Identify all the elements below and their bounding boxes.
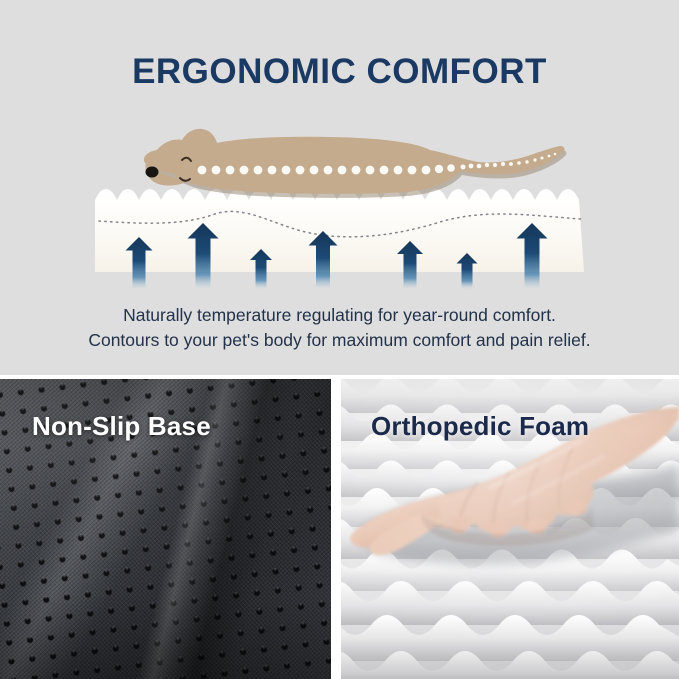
page-title: ERGONOMIC COMFORT [0,52,679,92]
panel-label-non-slip-base: Non-Slip Base [32,411,211,442]
product-infographic: ERGONOMIC COMFORT [0,0,679,679]
panel-non-slip-base: Non-Slip Base [0,379,331,679]
feature-panels: Non-Slip Base [0,379,679,679]
panel-orthopedic-foam: Orthopedic Foam [341,379,679,679]
caption-line-2: Contours to your pet's body for maximum … [0,328,679,353]
ergonomic-comfort-panel: ERGONOMIC COMFORT [0,0,679,375]
benefit-captions: Naturally temperature regulating for yea… [0,303,679,353]
sleeping-dog-illustration [130,126,570,226]
caption-line-1: Naturally temperature regulating for yea… [0,303,679,328]
panel-label-orthopedic-foam: Orthopedic Foam [371,411,589,442]
